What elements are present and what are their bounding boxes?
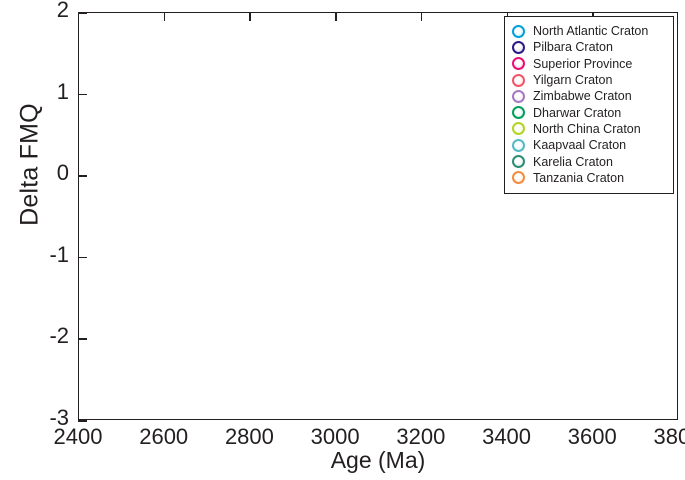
legend-item-label: Yilgarn Craton: [533, 73, 612, 87]
legend-marker-icon: [512, 171, 525, 184]
y-tick-mark: [78, 338, 87, 340]
legend-item-kaapvaal-craton[interactable]: Kaapvaal Craton: [512, 137, 666, 153]
legend-marker-icon: [512, 74, 525, 87]
legend-item-label: Superior Province: [533, 57, 632, 71]
x-axis-title: Age (Ma): [78, 447, 678, 474]
legend-item-label: Pilbara Craton: [533, 40, 613, 54]
legend-item-pilbara-craton[interactable]: Pilbara Craton: [512, 39, 666, 55]
y-tick-label: -2: [23, 323, 69, 349]
legend-item-tanzania-craton[interactable]: Tanzania Craton: [512, 170, 666, 186]
legend-item-north-atlantic-craton[interactable]: North Atlantic Craton: [512, 23, 666, 39]
legend-marker-icon: [512, 57, 525, 70]
legend-item-yilgarn-craton[interactable]: Yilgarn Craton: [512, 72, 666, 88]
y-tick-mark: [78, 12, 87, 14]
legend-marker-icon: [512, 90, 525, 103]
legend-item-label: Zimbabwe Craton: [533, 89, 632, 103]
chart-root: Delta FMQ Modern IABs (4% H2O) Delta FMQ…: [0, 0, 685, 480]
legend-item-zimbabwe-craton[interactable]: Zimbabwe Craton: [512, 88, 666, 104]
legend-marker-icon: [512, 106, 525, 119]
x-tick-mark: [249, 12, 251, 21]
y-tick-mark: [78, 420, 87, 422]
legend-marker-icon: [512, 139, 525, 152]
legend-marker-icon: [512, 41, 525, 54]
legend-item-superior-province[interactable]: Superior Province: [512, 56, 666, 72]
legend-marker-icon: [512, 25, 525, 38]
y-tick-label: 0: [23, 160, 69, 186]
legend-item-label: Karelia Craton: [533, 155, 613, 169]
y-tick-label: -1: [23, 242, 69, 268]
legend-item-label: North Atlantic Craton: [533, 24, 648, 38]
y-tick-mark: [78, 257, 87, 259]
legend[interactable]: North Atlantic CratonPilbara CratonSuper…: [504, 16, 674, 194]
y-tick-mark: [78, 175, 87, 177]
legend-item-north-china-craton[interactable]: North China Craton: [512, 121, 666, 137]
legend-item-label: Dharwar Craton: [533, 106, 621, 120]
y-tick-label: 1: [23, 79, 69, 105]
legend-item-label: Kaapvaal Craton: [533, 138, 626, 152]
legend-item-dharwar-craton[interactable]: Dharwar Craton: [512, 104, 666, 120]
legend-item-label: North China Craton: [533, 122, 641, 136]
legend-item-karelia-craton[interactable]: Karelia Craton: [512, 153, 666, 169]
x-tick-mark: [421, 12, 423, 21]
y-tick-mark: [78, 94, 87, 96]
legend-marker-icon: [512, 155, 525, 168]
x-tick-mark: [335, 12, 337, 21]
legend-item-label: Tanzania Craton: [533, 171, 624, 185]
y-tick-label: 2: [23, 0, 69, 23]
legend-marker-icon: [512, 122, 525, 135]
x-tick-mark: [164, 12, 166, 21]
